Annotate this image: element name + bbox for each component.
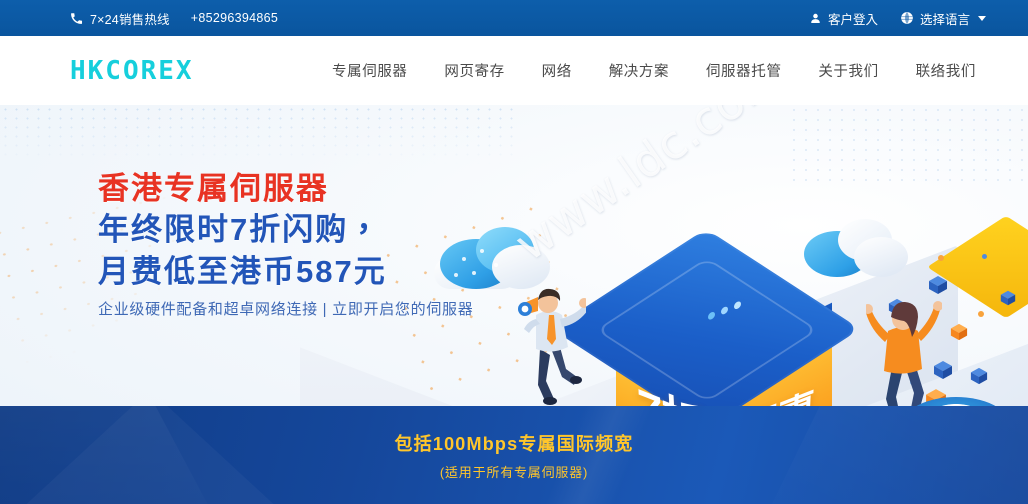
nav-item-solutions[interactable]: 解决方案: [607, 54, 671, 87]
floating-cube-blue-4: [970, 367, 988, 390]
top-right-group: 客户登入 选择语言: [809, 0, 986, 36]
top-utility-bar: 7×24销售热线 +85296394865 客户登入: [0, 0, 1028, 36]
main-nav: 专属伺服器 网页寄存 网络 解决方案 伺服器托管 关于我们 联络我们: [330, 36, 1006, 105]
promo-cube: 7折 優惠: [600, 245, 850, 406]
banner-triangle-decoration: [20, 406, 280, 504]
hotline-label: 7×24销售热线: [90, 9, 170, 28]
hero-headline-2: 年终限时7折闪购，: [98, 209, 473, 251]
person-with-megaphone: [516, 281, 586, 406]
bandwidth-banner: 包括100Mbps专属国际频宽 (适用于所有专属伺服器): [0, 406, 1028, 504]
hero-headline-1: 香港专属伺服器: [98, 169, 473, 209]
hotline-group: 7×24销售热线 +85296394865: [70, 0, 278, 36]
floating-cube-blue-5: [1000, 290, 1016, 311]
nav-item-contact-us[interactable]: 联络我们: [914, 54, 978, 87]
site-header: HKCOREX 专属伺服器 网页寄存 网络 解决方案 伺服器托管 关于我们 联络…: [0, 36, 1028, 105]
nav-item-about-us[interactable]: 关于我们: [816, 54, 880, 87]
language-selector-label: 选择语言: [920, 9, 970, 28]
phone-icon: [70, 12, 83, 25]
globe-icon: [900, 11, 914, 25]
nav-item-dedicated-servers[interactable]: 专属伺服器: [330, 54, 410, 87]
floating-cube-orange-1: [950, 323, 968, 346]
logo[interactable]: HKCOREX: [70, 58, 194, 84]
floating-dot-orange-1: [938, 255, 944, 261]
customer-login-button[interactable]: 客户登入: [809, 9, 878, 28]
person-jumping: [866, 293, 942, 406]
floating-dot-orange-2: [978, 311, 984, 317]
hero-banner: 7折 優惠 香港专属伺服器 年终限时7折闪购， 月费低至港币587元 企业级硬件…: [0, 105, 1028, 406]
server-stack: [890, 395, 1018, 406]
chevron-down-icon: [978, 16, 986, 21]
hero-headline-3: 月费低至港币587元: [98, 251, 473, 293]
banner-subtitle: (适用于所有专属伺服器): [440, 462, 588, 481]
user-icon: [809, 12, 822, 25]
hero-copy: 香港专属伺服器 年终限时7折闪购， 月费低至港币587元 企业级硬件配备和超卓网…: [98, 169, 473, 320]
language-selector[interactable]: 选择语言: [900, 9, 986, 28]
customer-login-label: 客户登入: [828, 9, 878, 28]
nav-item-network[interactable]: 网络: [540, 54, 574, 87]
nav-item-colocation[interactable]: 伺服器托管: [704, 54, 784, 87]
nav-item-web-hosting[interactable]: 网页寄存: [442, 54, 506, 87]
banner-title: 包括100Mbps专属国际频宽: [394, 430, 633, 456]
hero-subtitle: 企业级硬件配备和超卓网络连接 | 立即开启您的伺服器: [98, 299, 473, 320]
hotline-number[interactable]: +85296394865: [191, 11, 278, 25]
floating-dot-blue-1: [982, 254, 987, 259]
page-root: 7×24销售热线 +85296394865 客户登入: [0, 0, 1028, 504]
